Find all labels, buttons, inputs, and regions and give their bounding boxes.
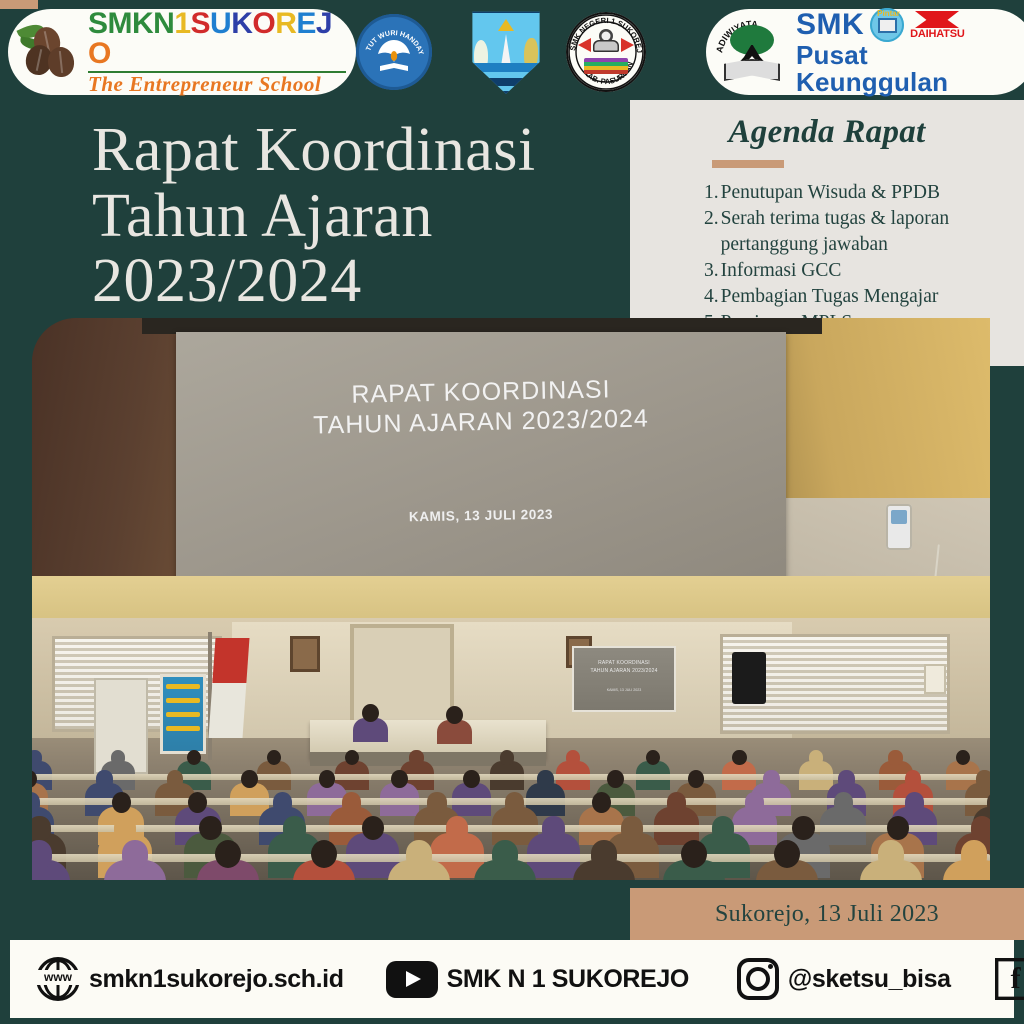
agenda-list: 1.Penutupan Wisuda & PPDB2.Serah terima … (704, 180, 1024, 336)
school-name-segment: U (210, 9, 231, 39)
smkn-core-icon (580, 28, 632, 76)
footer-website[interactable]: www smkn1sukorejo.sch.id (36, 957, 344, 1001)
smkn1-sukorejo-emblem: SMK NEGERI 1 SUKOREJO KAB. PASURUAN (566, 12, 646, 92)
audience-member-head (32, 840, 52, 868)
school-name: SMKN 1 SUKOREJO (88, 9, 346, 69)
audience-member-head (956, 750, 970, 765)
notice-board (160, 674, 206, 754)
agenda-item-number: 2. (704, 206, 719, 232)
secondary-projection-line-3: KAMIS, 13 JULI 2023 (572, 688, 676, 692)
footer-youtube[interactable]: SMK N 1 SUKOREJO (386, 961, 689, 998)
agenda-item-text: Serah terima tugas & laporan pertanggung… (721, 206, 1024, 258)
instagram-label: @sketsu_bisa (788, 965, 951, 994)
audience-member-head (96, 770, 113, 788)
school-name-segment: 1 (174, 9, 190, 39)
secondary-projection-line-1: RAPAT KOORDINASI TAHUN AJARAN 2023/2024 (572, 660, 676, 675)
audience-member-head (283, 816, 305, 840)
smk-pintar-icon: Pintar (870, 8, 904, 42)
school-wordmark: SMKN 1 SUKOREJO The Entrepreneur School (88, 9, 346, 95)
audience-member-head (362, 816, 384, 840)
audience-member-head (122, 840, 148, 868)
audience-member-head (838, 770, 855, 788)
audience-member-head (391, 770, 408, 788)
daihatsu-label: DAIHATSU (910, 29, 964, 40)
adiwiyata-icon: ADIWIYATA (716, 17, 788, 87)
audience-member-head (792, 816, 814, 840)
audience-member-head (500, 750, 514, 765)
agenda-item: 4.Pembagian Tugas Mengajar (704, 284, 1024, 310)
footer-instagram[interactable]: @sketsu_bisa (737, 958, 951, 1000)
audience-member-head (32, 816, 51, 840)
agenda-item-text: Penutupan Wisuda & PPDB (721, 180, 1024, 206)
school-name-segment: E (296, 9, 316, 39)
corner-accent-strip (0, 0, 38, 9)
facebook-glyph: f (995, 958, 1024, 1000)
daihatsu-mark-icon (915, 11, 959, 28)
audience-member-head (446, 816, 468, 840)
school-name-segment: K (231, 9, 252, 39)
audience-member-head (505, 792, 524, 813)
audience-member-head (976, 770, 990, 788)
audience-member-head (591, 840, 617, 868)
audience-member-head (319, 770, 336, 788)
audience-member-head (492, 840, 518, 868)
audience-member-head (32, 750, 42, 765)
youtube-label: SMK N 1 SUKOREJO (447, 965, 689, 994)
school-tagline: The Entrepreneur School (88, 74, 346, 95)
audience-member-head (878, 840, 904, 868)
audience-member-head (621, 816, 643, 840)
audience-member-head (888, 750, 902, 765)
audience-desk (32, 825, 990, 832)
audience-member-head (566, 750, 580, 765)
audience-member-head (199, 816, 221, 840)
meeting-photo: RAPAT KOORDINASI TAHUN AJARAN 2023/2024 … (32, 318, 990, 880)
audience-member-head (112, 792, 131, 813)
daihatsu-logo: DAIHATSU (910, 11, 964, 40)
audience-member-head (537, 770, 554, 788)
tut-wuri-icon: TUT WURI HANDAYANI (356, 14, 432, 90)
audience-member-head (542, 816, 564, 840)
youtube-icon (386, 961, 438, 998)
audience-member-head (409, 750, 423, 765)
audience-member-head (745, 792, 764, 813)
secondary-projection: RAPAT KOORDINASI TAHUN AJARAN 2023/2024 … (572, 646, 676, 712)
audience-member-head (463, 770, 480, 788)
wall-outlet-icon (924, 664, 946, 694)
school-name-segment: J (316, 9, 332, 39)
coffee-bean-icon (18, 21, 80, 83)
tut-wuri-handayani-logo: TUT WURI HANDAYANI (356, 14, 432, 90)
wall-remote-icon (886, 504, 912, 550)
audience-member-head (809, 750, 823, 765)
audience-member-head (311, 840, 337, 868)
audience-member-head (406, 840, 432, 868)
audience-member-head (114, 816, 136, 840)
date-banner: Sukorejo, 13 Juli 2023 (630, 888, 1024, 940)
audience-member-head (961, 840, 987, 868)
website-label: smkn1sukorejo.sch.id (89, 965, 344, 994)
title-line-1: Rapat Koordinasi (92, 118, 632, 184)
footer-bar: www smkn1sukorejo.sch.id SMK N 1 SUKOREJ… (10, 940, 1014, 1018)
jatim-shield-icon (466, 10, 546, 94)
agenda-item-number: 3. (704, 258, 719, 284)
footer-facebook[interactable]: f @sketsu.bisa (995, 958, 1024, 1000)
audience-member-head (167, 770, 184, 788)
date-text: Sukorejo, 13 Juli 2023 (715, 901, 939, 928)
indonesian-flag (209, 638, 250, 738)
audience-member-head (712, 816, 734, 840)
wall-portrait-1 (290, 636, 320, 672)
school-logo-pill: SMKN 1 SUKOREJO The Entrepreneur School (8, 9, 356, 95)
pusat-keunggulan-label: Pusat Keunggulan (796, 42, 1024, 95)
agenda-item: 2.Serah terima tugas & laporan pertanggu… (704, 206, 1024, 258)
agenda-item-number: 4. (704, 284, 719, 310)
instagram-icon (737, 958, 779, 1000)
facebook-icon: f (995, 958, 1024, 1000)
globe-www-icon: www (36, 957, 80, 1001)
school-name-segment: O (252, 9, 275, 39)
school-name-segment: O (88, 39, 111, 69)
title-line-3: 2023/2024 (92, 249, 632, 315)
audience-member-head (241, 770, 258, 788)
audience-member-head (273, 792, 292, 813)
pintar-label: Pintar (877, 10, 900, 18)
agenda-heading: Agenda Rapat (630, 114, 1024, 151)
school-name-segment: R (275, 9, 296, 39)
audience-member-head (905, 792, 924, 813)
page-title: Rapat Koordinasi Tahun Ajaran 2023/2024 (92, 118, 632, 315)
agenda-divider (712, 160, 784, 168)
audience-member-head (887, 816, 909, 840)
audience-member-head (342, 792, 361, 813)
projector-line-3: KAMIS, 13 JULI 2023 (176, 503, 786, 529)
presenter-head (362, 704, 379, 722)
agenda-item: 3.Informasi GCC (704, 258, 1024, 284)
audience-member-head (188, 792, 207, 813)
audience-member-head (971, 816, 990, 840)
school-name-segment: S (191, 9, 211, 39)
photo-left-wall (32, 318, 182, 618)
audience-member-head (834, 792, 853, 813)
www-glyph-label: www (36, 970, 80, 985)
adiwiyata-smkpk-pill: ADIWIYATA SMK Pintar DAIHATSU Pusat Keun… (706, 9, 1024, 95)
school-name-segment: SMKN (88, 9, 174, 39)
audience-member-head (763, 770, 780, 788)
presenter-head (446, 706, 463, 724)
agenda-item-text: Pembagian Tugas Mengajar (721, 284, 1024, 310)
audience-member-head (111, 750, 125, 765)
poster-canvas: SMKN 1 SUKOREJO The Entrepreneur School … (0, 0, 1024, 1024)
smk-pusat-keunggulan-wordmark: SMK Pintar DAIHATSU Pusat Keunggulan (796, 8, 1024, 95)
smk-label: SMK (796, 10, 864, 41)
audience-member-head (905, 770, 922, 788)
jawa-timur-emblem (466, 10, 546, 94)
audience-member-head (427, 792, 446, 813)
agenda-item-text: Informasi GCC (721, 258, 1024, 284)
agenda-item: 1.Penutupan Wisuda & PPDB (704, 180, 1024, 206)
room-speaker (732, 652, 766, 704)
audience-member-head (607, 770, 624, 788)
title-line-2: Tahun Ajaran (92, 184, 632, 250)
projector-screen: RAPAT KOORDINASI TAHUN AJARAN 2023/2024 … (176, 332, 786, 600)
audience-member-head (592, 792, 611, 813)
agenda-item-number: 1. (704, 180, 719, 206)
audience-member-head (667, 792, 686, 813)
audience-member-head (732, 750, 746, 765)
